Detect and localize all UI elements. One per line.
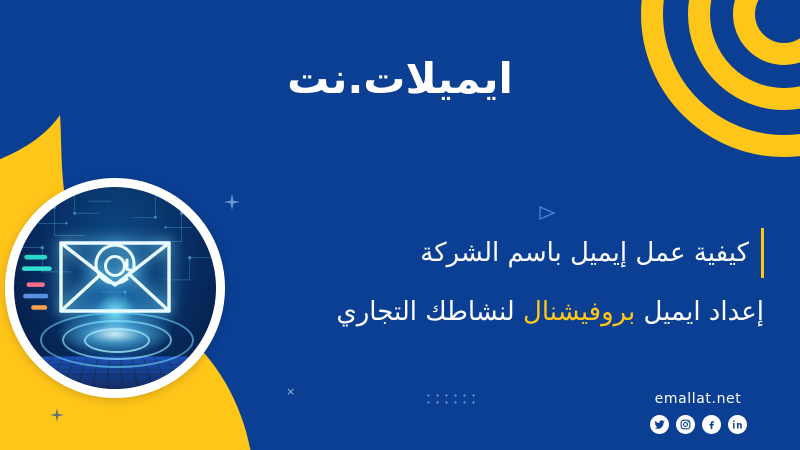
headline-line-2: إعداد ايميل بروفيشنال لنشاطك التجاري (244, 296, 764, 329)
triangle-decor-icon (538, 205, 556, 221)
headline-line-2-highlight: بروفيشنال (523, 297, 635, 327)
email-envelope-at-icon (56, 235, 174, 319)
banner-canvas: ايميلات.نت (0, 0, 800, 450)
facebook-icon[interactable] (702, 415, 721, 434)
linkedin-icon[interactable] (728, 415, 747, 434)
site-logo: ايميلات.نت (0, 58, 800, 100)
accent-bar (761, 228, 764, 278)
hero-image-circle (5, 178, 225, 398)
headline-block: كيفية عمل إيميل باسم الشركة إعداد ايميل … (244, 228, 764, 329)
headline-row-1: كيفية عمل إيميل باسم الشركة (244, 228, 764, 278)
hero-image (14, 187, 216, 389)
social-links (618, 415, 778, 434)
dot-grid (424, 392, 476, 404)
sparkle-icon-top (224, 194, 240, 210)
headline-line-2-part-1: إعداد ايميل (644, 297, 764, 327)
concentric-yellow-arcs (540, 0, 800, 200)
headline-line-1: كيفية عمل إيميل باسم الشركة (420, 237, 749, 270)
x-sparkle-icon: × (286, 386, 295, 397)
sparkle-icon-bottom (50, 408, 64, 422)
site-url: emallat.net (618, 391, 778, 407)
twitter-icon[interactable] (650, 415, 669, 434)
footer-block: emallat.net (618, 391, 778, 434)
center-glow (55, 314, 175, 354)
instagram-icon[interactable] (676, 415, 695, 434)
headline-line-2-part-2: لنشاطك التجاري (336, 297, 514, 327)
